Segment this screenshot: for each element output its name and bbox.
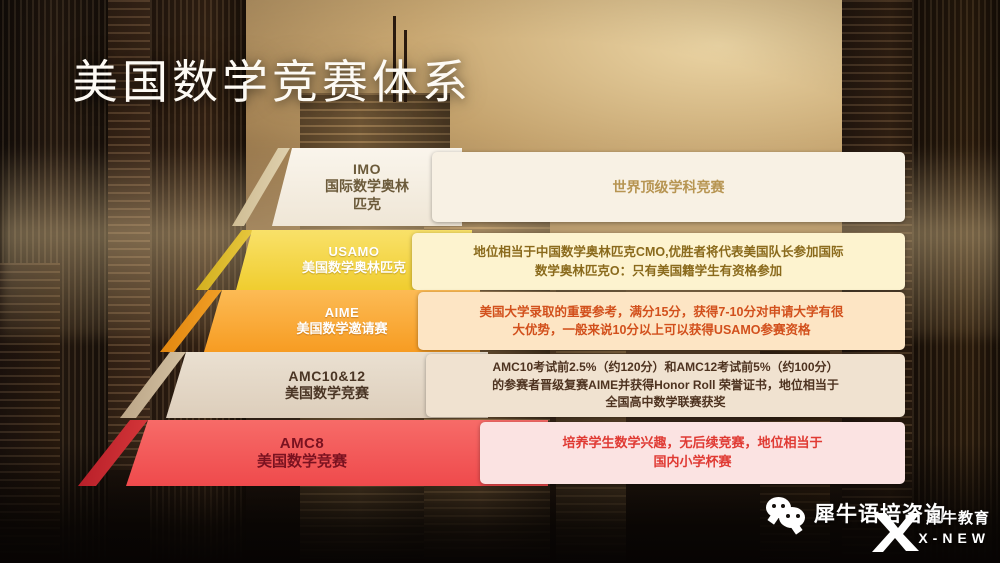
tier-imo-panel[interactable]: 世界顶级学科竞赛 <box>432 152 905 222</box>
tier-usamo-panel[interactable]: 地位相当于中国数学奥林匹克CMO,优胜者将代表美国队长参加国际 数学奥林匹克O：… <box>412 233 905 290</box>
tier-amc1012-cn1: 美国数学竞赛 <box>285 385 369 402</box>
tier-usamo-desc-1: 数学奥林匹克O：只有美国籍学生有资格参加 <box>473 262 843 280</box>
pyramid-diagram: IMO 国际数学奥林 匹克 世界顶级学科竞赛 USAMO 美国数学奥林匹克 <box>0 0 1000 563</box>
tier-imo-desc-0: 世界顶级学科竞赛 <box>613 177 725 197</box>
tier-amc8-desc-0: 培养学生数学兴趣，无后续竞赛，地位相当于 <box>562 434 822 453</box>
wechat-icon <box>766 497 806 529</box>
tier-amc1012-desc-2: 全国高中数学联赛获奖 <box>492 394 839 411</box>
slide-canvas: 美国数学竞赛体系 IMO 国际数学奥林 匹克 世界顶级学科竞赛 <box>0 0 1000 563</box>
brand-logo: 犀牛教育 X-NEW <box>870 507 990 555</box>
tier-aime-desc-1: 大优势，一般来说10分以上可以获得USAMO参赛资格 <box>480 321 844 339</box>
tier-imo-eng: IMO <box>325 161 409 178</box>
tier-usamo-eng: USAMO <box>302 244 406 260</box>
tier-imo-cn1: 国际数学奥林 <box>325 178 409 195</box>
watermark: 犀牛语培咨询 犀牛教育 X-NEW <box>766 493 992 555</box>
tier-usamo-desc-0: 地位相当于中国数学奥林匹克CMO,优胜者将代表美国队长参加国际 <box>473 243 843 261</box>
tier-amc8-desc-1: 国内小学杯赛 <box>562 453 822 472</box>
pyramid-tier-amc8[interactable]: AMC8 美国数学竞赛 <box>78 420 548 486</box>
tier-aime-cn1: 美国数学邀请赛 <box>296 321 387 337</box>
tier-aime-desc-0: 美国大学录取的重要参考，满分15分，获得7-10分对申请大学有很 <box>480 303 844 321</box>
x-mark-icon <box>870 511 922 553</box>
tier-imo-cn2: 匹克 <box>325 196 409 213</box>
tier-usamo-cn1: 美国数学奥林匹克 <box>302 260 406 276</box>
tier-amc1012-desc-1: 的参赛者晋级复赛AIME并获得Honor Roll 荣誉证书，地位相当于 <box>492 377 839 394</box>
tier-amc1012-panel[interactable]: AMC10考试前2.5%（约120分）和AMC12考试前5%（约100分） 的参… <box>426 354 905 417</box>
tier-amc8-eng: AMC8 <box>257 435 347 453</box>
tier-aime-panel[interactable]: 美国大学录取的重要参考，满分15分，获得7-10分对申请大学有很 大优势，一般来… <box>418 292 905 350</box>
tier-amc8-cn1: 美国数学竞赛 <box>257 453 347 471</box>
brand-text: 犀牛教育 X-NEW <box>918 507 990 546</box>
tier-amc1012-eng: AMC10&12 <box>285 368 369 385</box>
brand-en: X-NEW <box>918 530 990 546</box>
brand-cn: 犀牛教育 <box>918 507 990 528</box>
tier-aime-eng: AIME <box>296 305 387 321</box>
tier-amc8-panel[interactable]: 培养学生数学兴趣，无后续竞赛，地位相当于 国内小学杯赛 <box>480 422 905 484</box>
pyramid-tier-imo[interactable]: IMO 国际数学奥林 匹克 <box>232 148 462 226</box>
tier-amc1012-desc-0: AMC10考试前2.5%（约120分）和AMC12考试前5%（约100分） <box>492 359 839 376</box>
